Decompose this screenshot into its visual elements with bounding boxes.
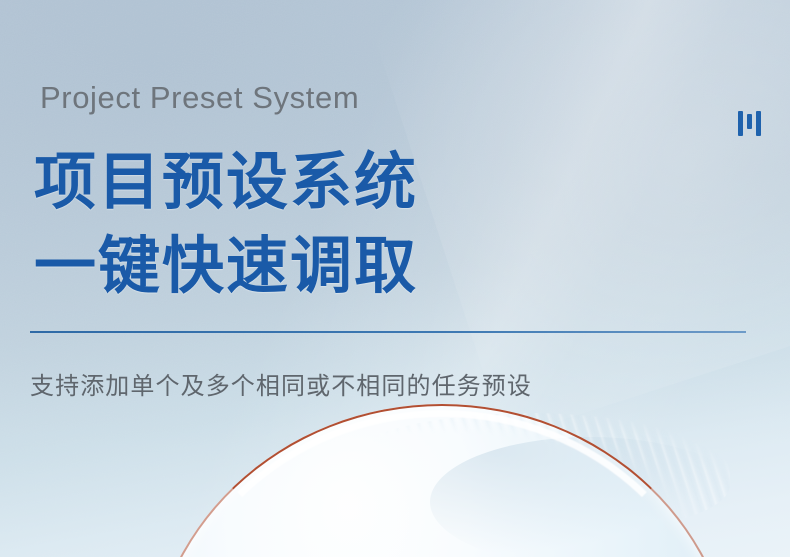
logo-bar-left (738, 111, 743, 136)
eyebrow-title: Project Preset System (40, 80, 359, 116)
headline-line-2: 一键快速调取 (34, 225, 418, 309)
headline-line-1: 项目预设系统 (34, 141, 418, 225)
three-bar-logo-icon (738, 111, 762, 137)
subtitle-text: 支持添加单个及多个相同或不相同的任务预设 (30, 366, 532, 401)
page-title: 项目预设系统 一键快速调取 (34, 141, 418, 308)
promo-banner: Project Preset System 项目预设系统 一键快速调取 支持添加… (0, 0, 790, 557)
horizontal-divider (30, 331, 746, 333)
logo-bar-right (756, 111, 761, 136)
logo-bar-middle (747, 114, 752, 129)
